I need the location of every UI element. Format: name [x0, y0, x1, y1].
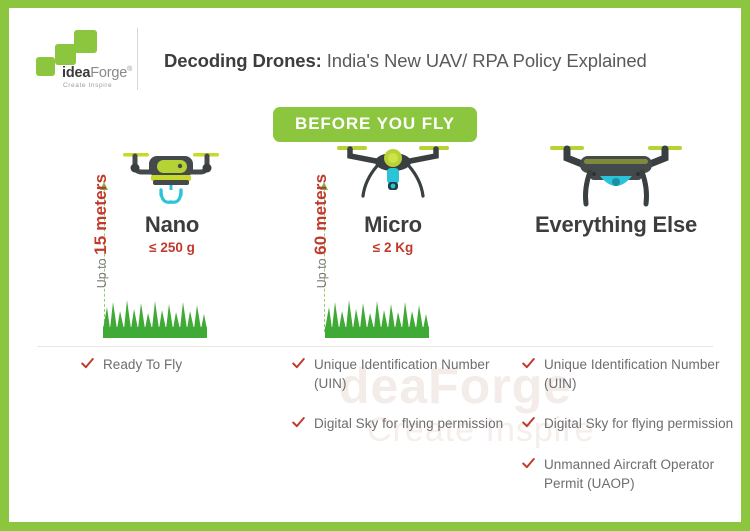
category-column-nano: Nano ≤ 250 g Up to 15 meters — [61, 136, 261, 341]
check-icon — [522, 457, 535, 470]
logo-idea-text: idea — [62, 65, 90, 81]
ruler-label-nano: Up to 15 meters — [92, 161, 110, 301]
category-column-everything-else: Everything Else — [501, 136, 731, 341]
section-divider — [37, 346, 713, 347]
requirement-item: Digital Sky for flying permission — [292, 415, 507, 434]
micro-drone-icon — [337, 138, 449, 206]
check-icon — [292, 416, 305, 429]
check-icon — [522, 357, 535, 370]
requirement-item: Ready To Fly — [81, 356, 291, 375]
requirement-label: Unmanned Aircraft Operator Permit (UAOP) — [544, 457, 714, 491]
logo-forge-text: Forge — [90, 65, 127, 81]
page-title-bold: Decoding Drones: — [164, 50, 322, 71]
ruler-value-nano: 15 meters — [91, 174, 110, 255]
check-icon — [292, 357, 305, 370]
infographic-poster: deaForge Create Inspire ideaForge® Creat… — [0, 0, 750, 531]
requirement-label: Ready To Fly — [103, 357, 182, 372]
requirements-column-everything-else: Unique Identification Number (UIN) Digit… — [522, 356, 741, 515]
category-name-everything-else: Everything Else — [501, 212, 731, 238]
grass-icon — [325, 299, 429, 341]
ruler-value-micro: 60 meters — [311, 174, 330, 255]
poster-header: ideaForge® Create Inspire Decoding Drone… — [9, 8, 741, 100]
large-drone-icon — [546, 138, 686, 208]
requirement-item: Digital Sky for flying permission — [522, 415, 741, 434]
page-title: Decoding Drones: India's New UAV/ RPA Po… — [164, 50, 647, 72]
logo-wordmark: ideaForge® — [62, 66, 132, 81]
page-title-rest: India's New UAV/ RPA Policy Explained — [322, 50, 647, 71]
grass-icon — [103, 299, 207, 341]
ideaforge-logo: ideaForge® Create Inspire — [34, 30, 129, 92]
check-icon — [522, 416, 535, 429]
ruler-prefix-micro: Up to — [315, 255, 329, 288]
check-icon — [81, 357, 94, 370]
category-columns: Nano ≤ 250 g Up to 15 meters — [9, 136, 741, 341]
requirement-item: Unmanned Aircraft Operator Permit (UAOP) — [522, 456, 741, 493]
logo-registered-mark: ® — [127, 66, 132, 73]
logo-tagline: Create Inspire — [63, 82, 112, 89]
header-divider — [137, 28, 138, 90]
requirement-label: Unique Identification Number (UIN) — [544, 357, 720, 391]
requirement-label: Digital Sky for flying permission — [544, 416, 733, 431]
requirement-label: Unique Identification Number (UIN) — [314, 357, 490, 391]
ruler-label-micro: Up to 60 meters — [312, 161, 330, 301]
category-column-micro: Micro ≤ 2 Kg Up to 60 meters — [281, 136, 481, 341]
requirements-column-micro: Unique Identification Number (UIN) Digit… — [292, 356, 507, 456]
requirement-item: Unique Identification Number (UIN) — [292, 356, 507, 393]
requirement-item: Unique Identification Number (UIN) — [522, 356, 741, 393]
poster-page: deaForge Create Inspire ideaForge® Creat… — [9, 8, 741, 522]
nano-drone-icon — [121, 144, 221, 208]
requirement-label: Digital Sky for flying permission — [314, 416, 503, 431]
requirements-column-nano: Ready To Fly — [81, 356, 291, 397]
ruler-prefix-nano: Up to — [95, 255, 109, 288]
